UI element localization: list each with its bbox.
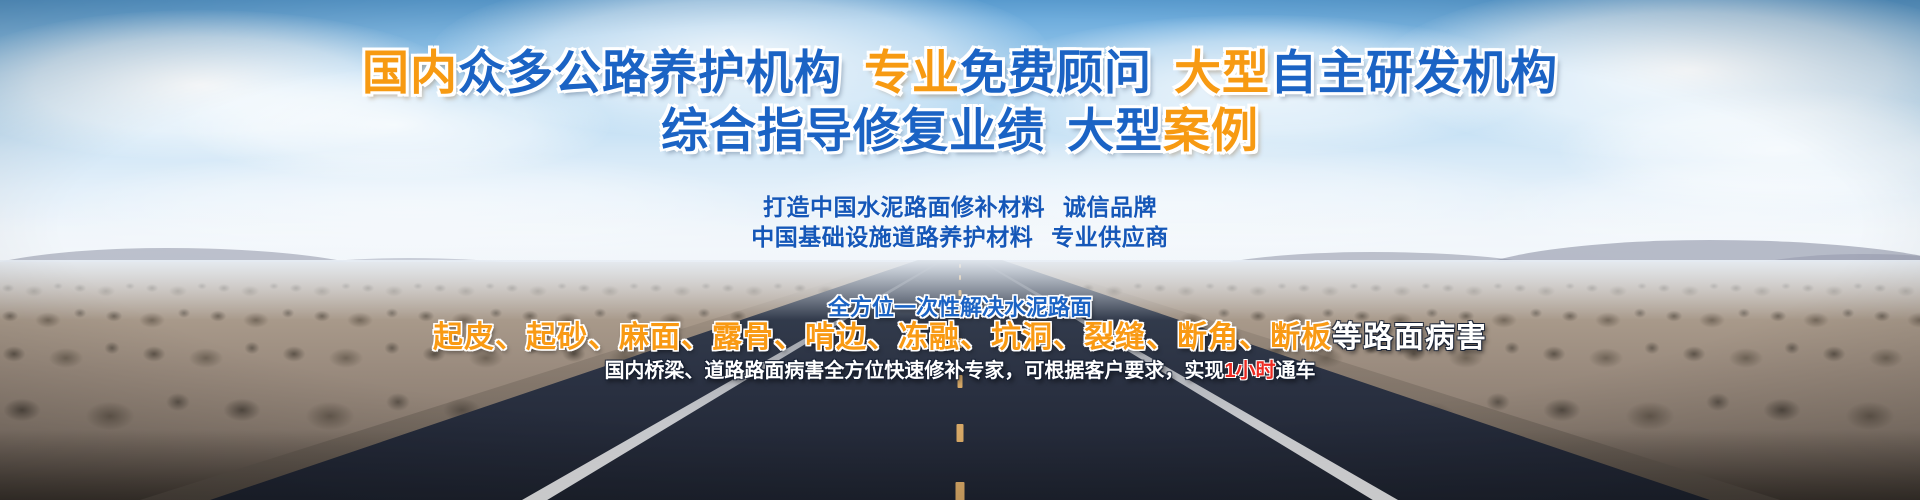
subheading-text-supplier: 专业供应商	[1051, 224, 1169, 250]
bottom-defect-suffix: 等路面病害	[1332, 321, 1487, 354]
subheading-line-2: 中国基础设施道路养护材料专业供应商	[0, 222, 1920, 252]
headline-segment-daxing: 大型	[1174, 46, 1270, 99]
headline-segment-zizhu: 自主研发机构	[1270, 46, 1558, 99]
headline-segment-anli: 案例	[1163, 104, 1259, 157]
headline-line-2: 综合指导修复业绩大型案例	[0, 102, 1920, 160]
bottom-line-2: 起皮、起砂、麻面、露骨、啃边、冻融、坑洞、裂缝、断角、断板等路面病害	[0, 318, 1920, 358]
headline-segment-guonei: 国内	[362, 46, 458, 99]
headline-segment-daxing2: 大型	[1067, 104, 1163, 157]
subheading-text-brand: 诚信品牌	[1063, 194, 1157, 220]
headline-segment-zhongduo: 众多公路养护机构	[458, 46, 842, 99]
bottom-defect-list: 起皮、起砂、麻面、露骨、啃边、冻融、坑洞、裂缝、断角、断板	[433, 321, 1332, 354]
subheading-text-primary: 打造中国水泥路面修补材料	[763, 194, 1045, 220]
banner-content: 国内众多公路养护机构专业免费顾问大型自主研发机构 综合指导修复业绩大型案例 打造…	[0, 0, 1920, 500]
subheading-line-1: 打造中国水泥路面修补材料诚信品牌	[0, 192, 1920, 222]
bottom-solution-text: 全方位一次性解决水泥路面	[828, 295, 1092, 320]
headline-segment-zhuanye: 专业	[864, 46, 960, 99]
bottom-traffic-text: 通车	[1276, 360, 1316, 382]
headline-line-1: 国内众多公路养护机构专业免费顾问大型自主研发机构	[0, 44, 1920, 102]
subheading-text-materials: 中国基础设施道路养护材料	[751, 224, 1033, 250]
bottom-expert-text: 国内桥梁、道路路面病害全方位快速修补专家，可根据客户要求，实现	[604, 360, 1224, 382]
headline-segment-mianfei: 免费顾问	[960, 46, 1152, 99]
bottom-line-3: 国内桥梁、道路路面病害全方位快速修补专家，可根据客户要求，实现1小时通车	[0, 358, 1920, 384]
headline-segment-zonghe: 综合指导修复业绩	[661, 104, 1045, 157]
bottom-highlight-duration: 1小时	[1224, 360, 1275, 382]
promo-banner: 国内众多公路养护机构专业免费顾问大型自主研发机构 综合指导修复业绩大型案例 打造…	[0, 0, 1920, 500]
